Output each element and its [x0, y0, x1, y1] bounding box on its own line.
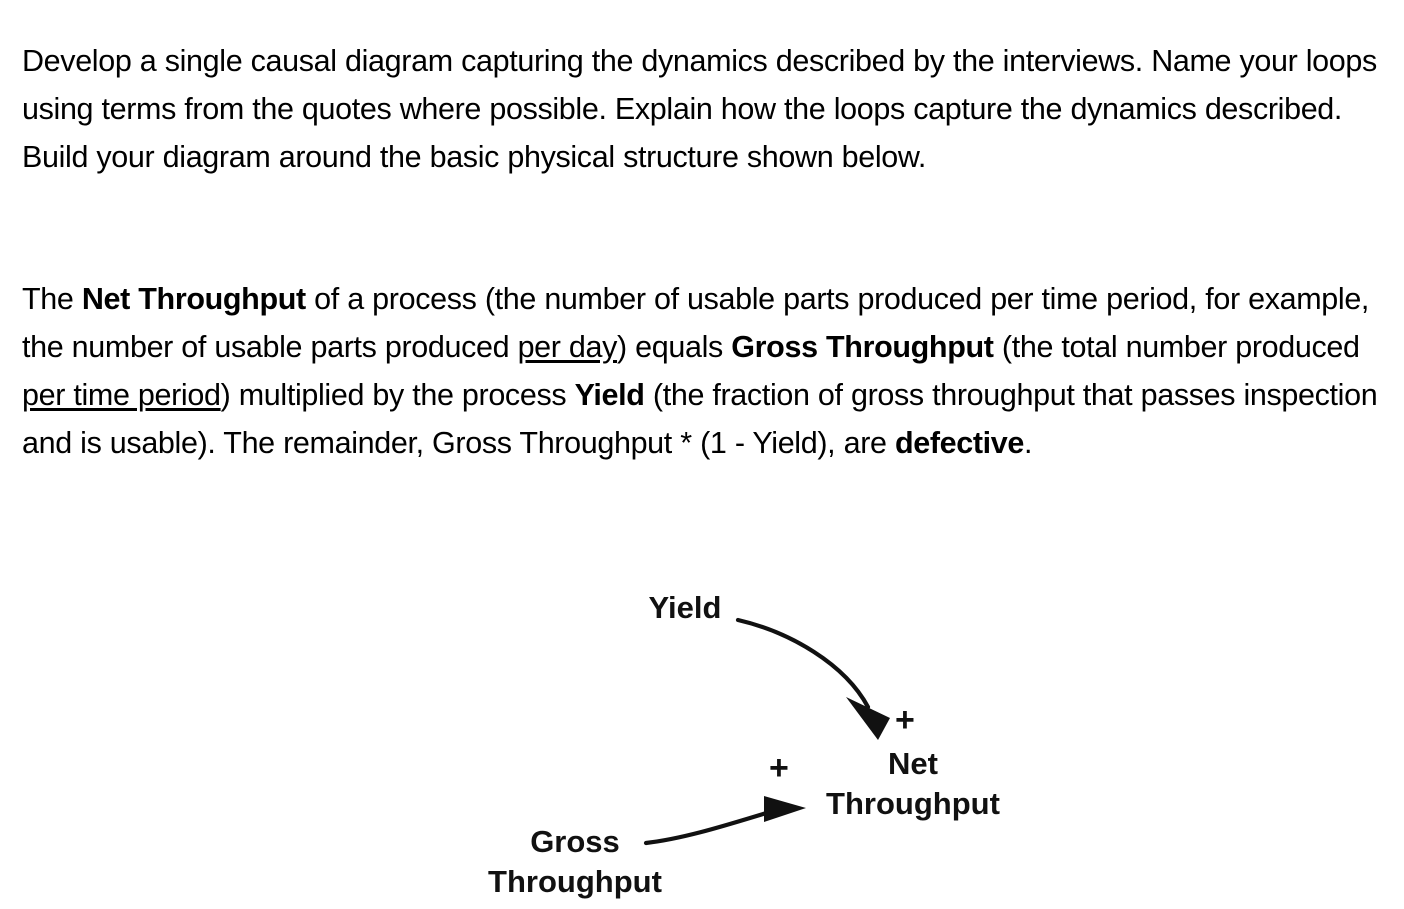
- node-net-throughput-line1: Net: [813, 744, 1013, 784]
- intro-paragraph: Develop a single causal diagram capturin…: [22, 37, 1392, 181]
- node-yield-label: Yield: [649, 590, 722, 625]
- emphasis-bold: Net Throughput: [82, 282, 306, 316]
- link-yield-to-net-throughput: [738, 620, 890, 740]
- node-yield: Yield: [585, 588, 785, 628]
- emphasis-underline: per time period: [22, 378, 221, 412]
- text-run: The: [22, 282, 82, 316]
- emphasis-bold: Gross Throughput: [731, 330, 993, 364]
- node-net-throughput: Net Throughput: [813, 744, 1013, 824]
- node-net-throughput-line2: Throughput: [813, 784, 1013, 824]
- link-yield-net-curve: [738, 620, 868, 707]
- text-run: (the total number produced: [994, 330, 1360, 364]
- node-gross-throughput: Gross Throughput: [475, 822, 675, 902]
- arrowhead-gross-net: [764, 796, 806, 822]
- text-run: ) multiplied by the process: [221, 378, 575, 412]
- causal-loop-diagram: Yield Net Throughput Gross Throughput + …: [0, 540, 1404, 909]
- text-run: .: [1024, 426, 1032, 460]
- polarity-sign-yield-net: +: [895, 703, 915, 737]
- text-run: ) equals: [617, 330, 731, 364]
- emphasis-underline: per day: [518, 330, 617, 364]
- slide-page: Develop a single causal diagram capturin…: [0, 0, 1404, 909]
- node-gross-throughput-line2: Throughput: [475, 862, 675, 902]
- node-gross-throughput-line1: Gross: [475, 822, 675, 862]
- emphasis-bold: Yield: [575, 378, 645, 412]
- emphasis-bold: defective: [895, 426, 1024, 460]
- definition-paragraph: The Net Throughput of a process (the num…: [22, 275, 1392, 467]
- text-run: Develop a single causal diagram capturin…: [22, 44, 1377, 174]
- polarity-sign-gross-net: +: [769, 751, 789, 785]
